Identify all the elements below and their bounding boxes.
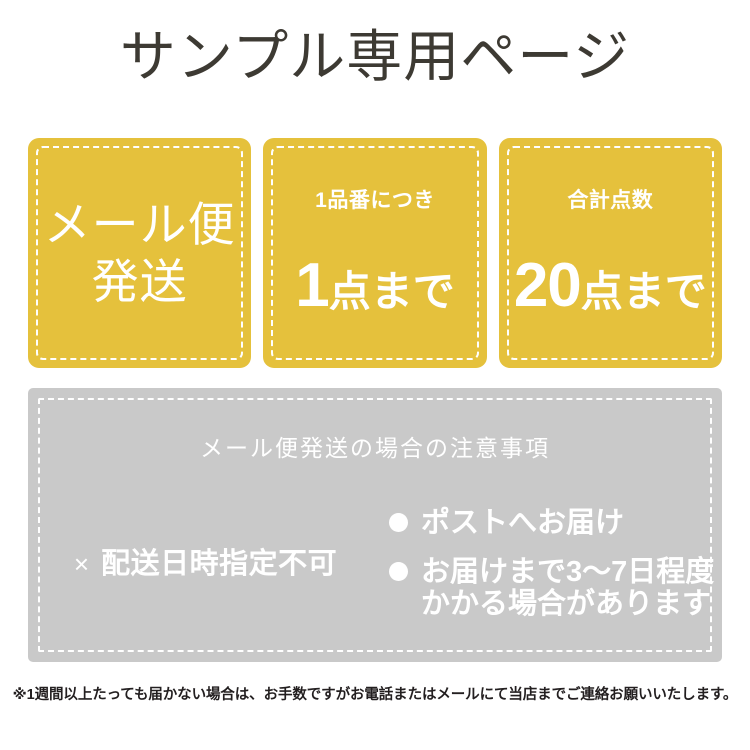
- card-total-quantity-limit-content: 合計点数 20 点まで: [499, 190, 722, 317]
- card-mail-shipping: メール便 発送: [28, 138, 251, 368]
- notice-restriction-item: × 配送日時指定不可: [28, 550, 383, 579]
- notice-bullet-2-line2: かかる場合があります: [421, 588, 714, 620]
- notice-panel: メール便発送の場合の注意事項 × 配送日時指定不可 ポストへお届け お届けまで3…: [28, 388, 722, 662]
- card-total-quantity-limit: 合計点数 20 点まで: [499, 138, 722, 368]
- notice-bullet-2-line1: お届けまで3〜7日程度: [421, 556, 714, 588]
- footer-note: ※1週間以上たっても届かない場合は、お手数ですがお電話またはメールにて当店までご…: [0, 686, 750, 705]
- sample-shipping-info-page: サンプル専用ページ メール便 発送 1品番につき 1 点まで: [0, 0, 750, 750]
- notice-restriction-label: 配送日時指定不可: [101, 550, 337, 579]
- card-total-quantity-limit-caption: 合計点数: [499, 190, 722, 211]
- notice-heading: メール便発送の場合の注意事項: [28, 429, 722, 463]
- shipping-cards-row: メール便 発送 1品番につき 1 点まで 合計点数 20 点まで: [28, 138, 722, 368]
- card-per-item-limit-caption: 1品番につき: [263, 190, 486, 211]
- card-per-item-limit-unit: 点まで: [329, 271, 455, 313]
- cross-icon: ×: [74, 551, 89, 577]
- bullet-dot-icon: [389, 513, 408, 532]
- card-total-quantity-limit-unit: 点まで: [581, 271, 707, 313]
- card-mail-shipping-content: メール便 発送: [28, 196, 251, 311]
- page-title: サンプル専用ページ: [0, 26, 750, 88]
- card-per-item-limit-content: 1品番につき 1 点まで: [263, 190, 486, 317]
- card-total-quantity-limit-number: 20: [514, 255, 581, 317]
- list-item: ポストへお届け: [389, 507, 722, 539]
- notice-bullet-1-line1: ポストへお届け: [421, 507, 624, 539]
- list-item: お届けまで3〜7日程度 かかる場合があります: [389, 556, 722, 621]
- card-mail-shipping-line1: メール便: [28, 196, 251, 253]
- card-total-quantity-limit-value: 20 点まで: [499, 255, 722, 317]
- bullet-dot-icon: [389, 562, 408, 581]
- notice-bullet-2-text: お届けまで3〜7日程度 かかる場合があります: [421, 556, 714, 621]
- card-per-item-limit: 1品番につき 1 点まで: [263, 138, 486, 368]
- card-mail-shipping-line2: 発送: [28, 253, 251, 310]
- notice-bullet-list: ポストへお届け お届けまで3〜7日程度 かかる場合があります: [383, 507, 722, 620]
- card-per-item-limit-value: 1 点まで: [263, 255, 486, 317]
- card-per-item-limit-number: 1: [295, 255, 328, 317]
- notice-body: × 配送日時指定不可 ポストへお届け お届けまで3〜7日程度 かかる場合がありま…: [28, 484, 722, 644]
- notice-bullet-1-text: ポストへお届け: [421, 507, 624, 539]
